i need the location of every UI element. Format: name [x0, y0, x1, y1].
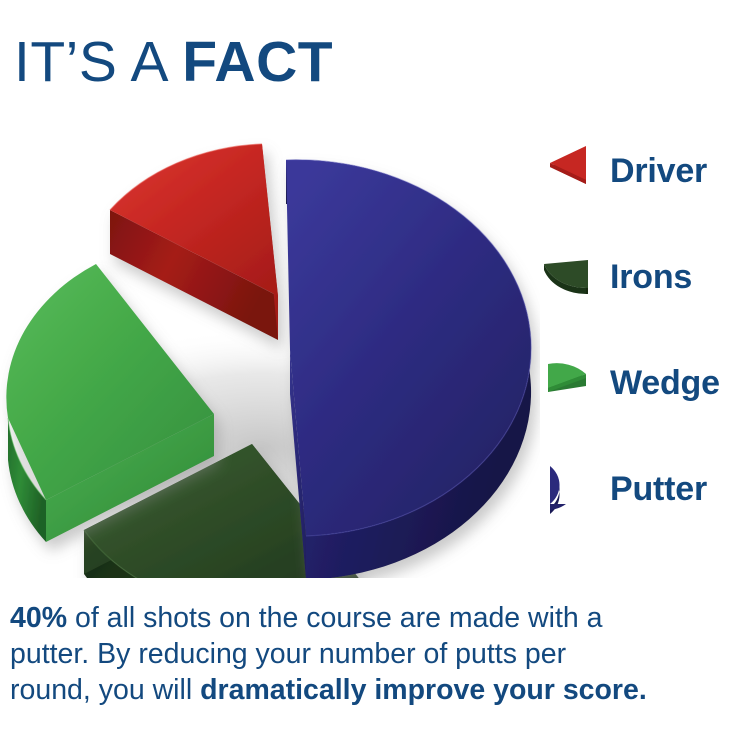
caption-line-3-rest: round, you will [10, 674, 200, 706]
legend-label-wedge: Wedge [610, 364, 720, 403]
pie-chart-svg [0, 118, 540, 578]
caption-line-1: 40% of all shots on the course are made … [10, 600, 750, 636]
caption-line-2: putter. By reducing your number of putts… [10, 636, 750, 672]
pie-slice-driver[interactable] [110, 144, 278, 340]
legend-label-driver: Driver [610, 152, 707, 191]
page-title-bold: FACT [182, 30, 333, 94]
chart-legend: Driver Irons Wedge [540, 132, 755, 552]
page-title-light: IT’S A [14, 30, 182, 94]
pie-wedge-icon [540, 352, 602, 414]
pie-wedge-icon [540, 458, 602, 520]
caption-line-1-rest: of all shots on the course are made with… [67, 602, 602, 634]
pie-slice-putter[interactable] [286, 160, 531, 578]
caption-block: 40% of all shots on the course are made … [10, 600, 750, 708]
page-title: IT’S A FACT [14, 26, 514, 98]
infographic-root: IT’S A FACT [0, 0, 755, 755]
pie-wedge-icon [540, 140, 602, 202]
pie-wedge-icon [540, 246, 602, 308]
caption-stat: 40% [10, 602, 67, 634]
legend-label-irons: Irons [610, 258, 692, 297]
legend-label-putter: Putter [610, 470, 707, 509]
legend-item-putter[interactable]: Putter [540, 450, 755, 528]
legend-item-driver[interactable]: Driver [540, 132, 755, 210]
legend-item-irons[interactable]: Irons [540, 238, 755, 316]
pie-chart [0, 118, 540, 578]
legend-item-wedge[interactable]: Wedge [540, 344, 755, 422]
caption-line-3: round, you will dramatically improve you… [10, 672, 750, 708]
caption-emphasis: dramatically improve your score. [200, 674, 647, 706]
